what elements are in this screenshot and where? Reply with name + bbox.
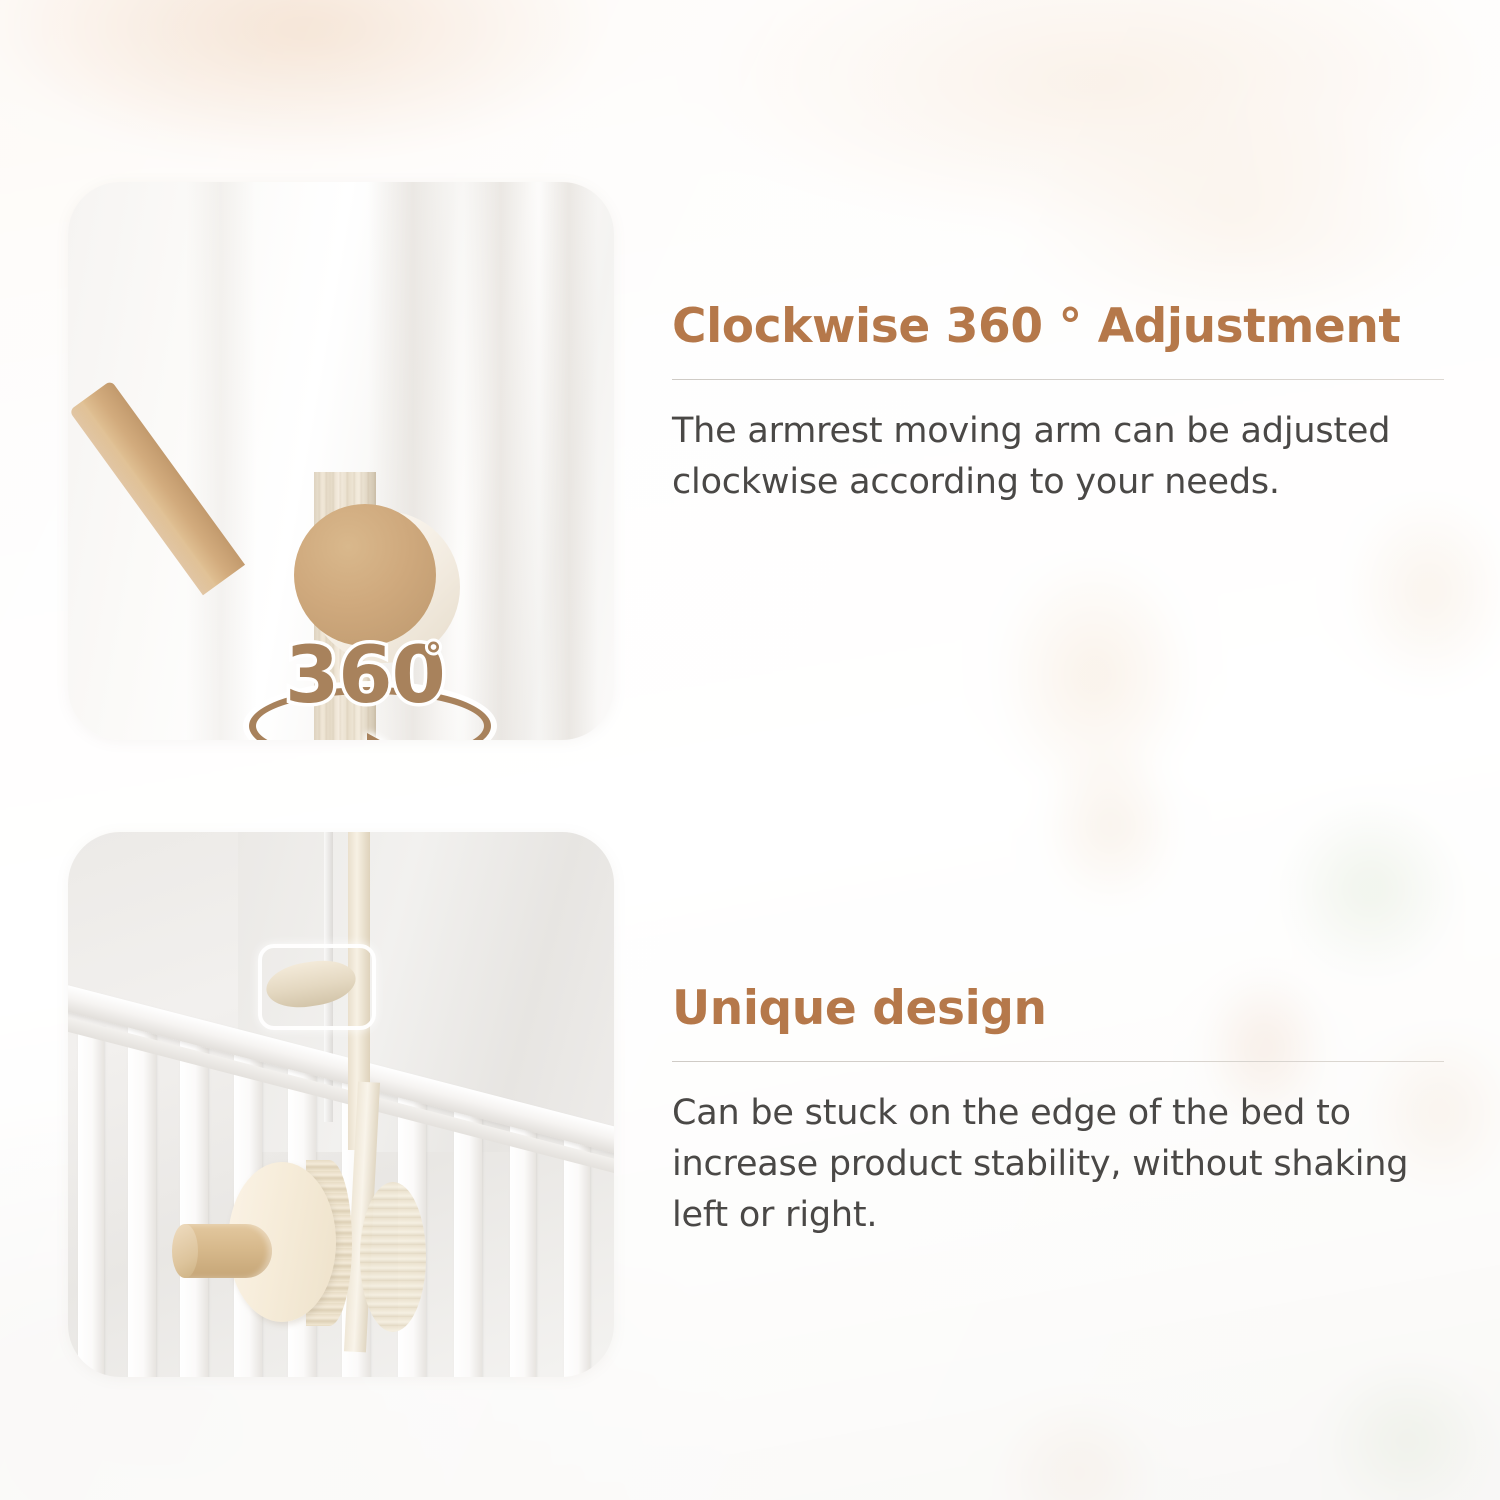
detail-highlight-box (258, 944, 376, 1030)
badge-degree-symbol: ° (425, 639, 442, 673)
crib-slat (128, 1020, 156, 1377)
wooden-dowel-peg-cap (172, 1224, 198, 1278)
badge-number: 360 (285, 637, 445, 715)
rotation-360-badge: 360 ° (243, 637, 483, 740)
crib-slat (454, 1104, 482, 1377)
curtain-fold (540, 182, 598, 740)
feature-heading: Unique design (672, 978, 1444, 1039)
heading-divider (672, 1061, 1444, 1062)
crib-slat (180, 1032, 208, 1377)
feature-block-clockwise-360-adjustment: Clockwise 360 ° Adjustment The armrest m… (672, 296, 1444, 543)
feature-body-text: The armrest moving arm can be adjusted c… (672, 406, 1444, 508)
crib-slat (510, 1120, 536, 1377)
rotation-arrow-head-icon (367, 733, 389, 740)
feature-heading: Clockwise 360 ° Adjustment (672, 296, 1444, 357)
pivot-wooden-disc (294, 504, 436, 646)
plywood-disc-secondary (360, 1182, 426, 1332)
heading-divider (672, 379, 1444, 380)
feature-block-unique-design: Unique design Can be stuck on the edge o… (672, 978, 1444, 1276)
crib-slat (564, 1136, 590, 1377)
wooden-pivot-arm-photo: 360 ° (68, 182, 614, 740)
product-feature-page: 360 ° Clockwise 360 ° Adjustment (0, 0, 1500, 1500)
crib-slat (78, 1027, 104, 1377)
crib-rail-mount-photo (68, 832, 614, 1377)
feature-body-text: Can be stuck on the edge of the bed to i… (672, 1088, 1444, 1241)
